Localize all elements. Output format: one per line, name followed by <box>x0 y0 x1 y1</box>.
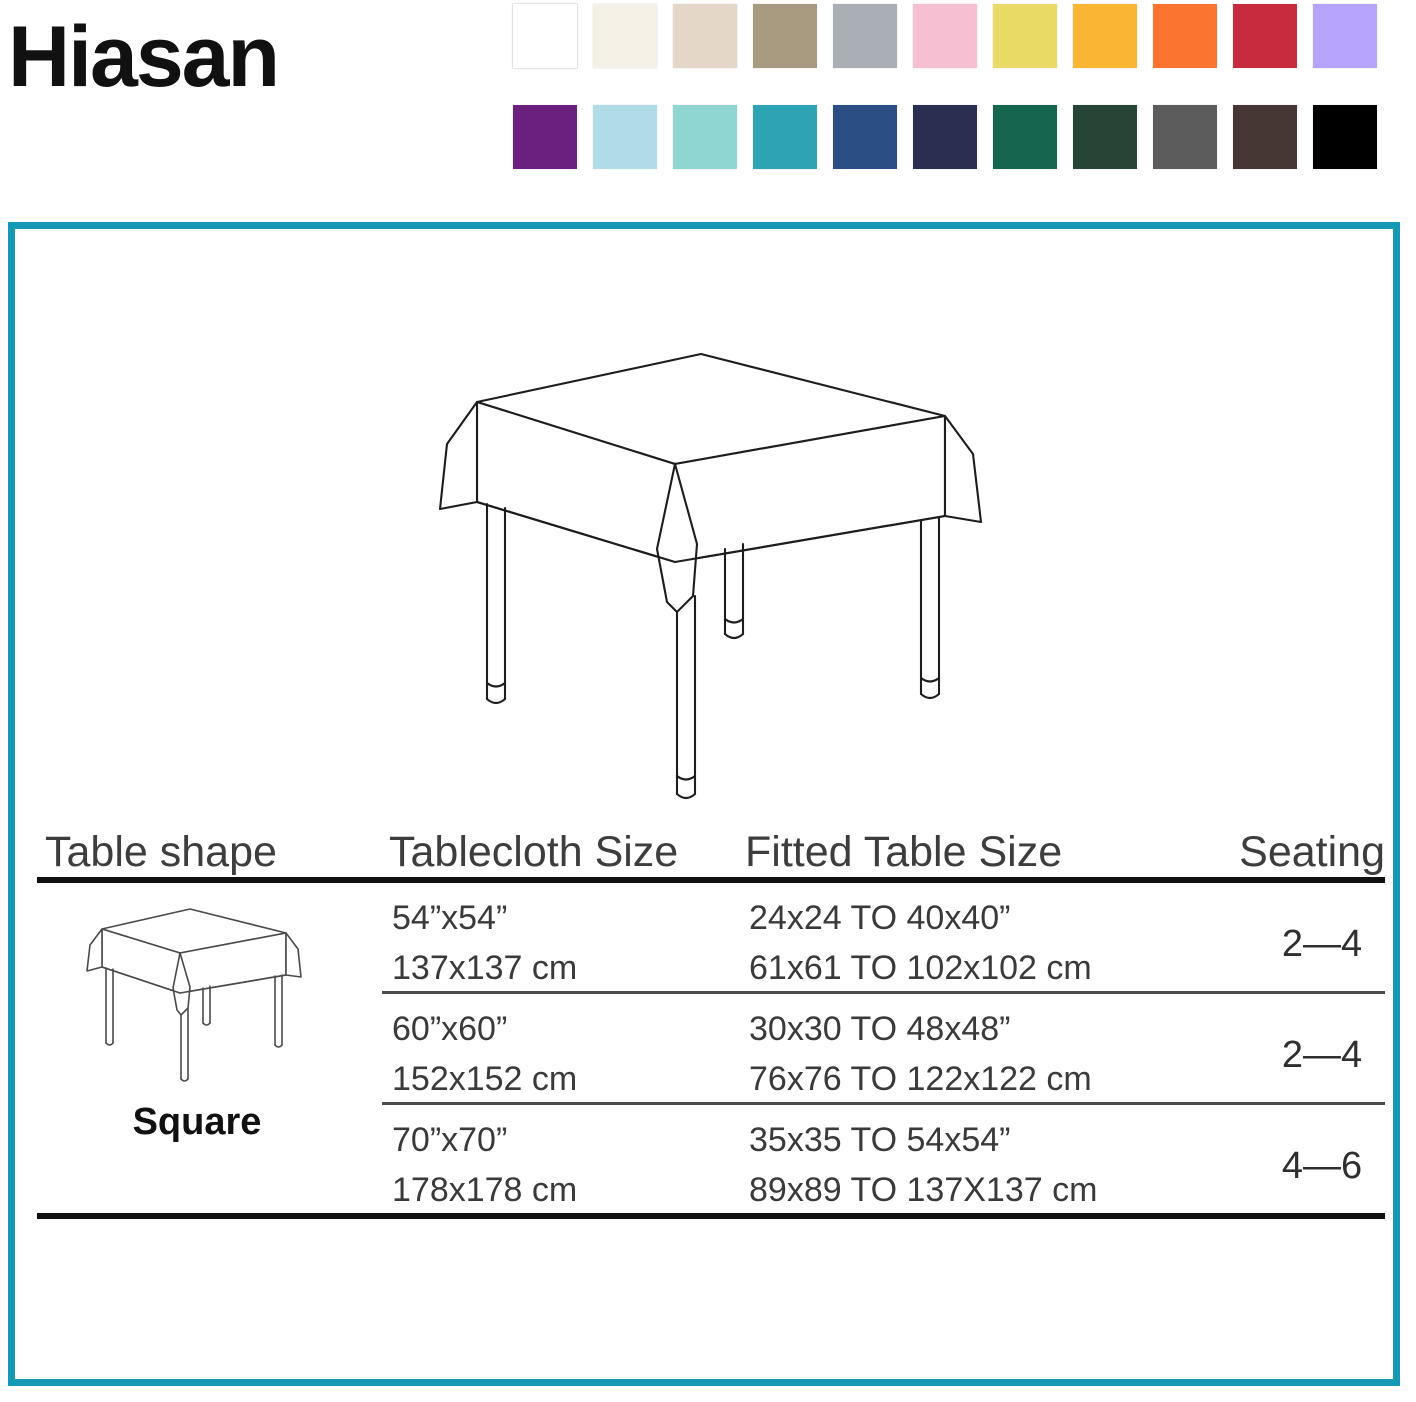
cell-fitted-size-inches: 35x35 TO 54x54” <box>749 1121 1010 1160</box>
cell-fitted-size-inches: 24x24 TO 40x40” <box>749 899 1010 938</box>
cell-seating: 2—4 <box>1227 923 1416 966</box>
cell-tablecloth-size-cm: 152x152 cm <box>392 1060 577 1099</box>
color-swatch-row-1 <box>513 4 1403 68</box>
cell-tablecloth-size-cm: 137x137 cm <box>392 949 577 988</box>
swatch-black[interactable] <box>1313 105 1377 169</box>
table-bottom-divider <box>37 1213 1385 1219</box>
color-swatch-row-2 <box>513 105 1403 169</box>
cell-tablecloth-size-cm: 178x178 cm <box>392 1171 577 1210</box>
size-chart-table: Table shape Tablecloth Size Fitted Table… <box>37 809 1385 1219</box>
swatch-dark-teal[interactable] <box>993 105 1057 169</box>
cell-fitted-size-cm: 89x89 TO 137X137 cm <box>749 1171 1097 1210</box>
table-row: 54”x54” 137x137 cm 24x24 TO 40x40” 61x61… <box>37 883 1385 991</box>
cell-fitted-size-cm: 61x61 TO 102x102 cm <box>749 949 1092 988</box>
swatch-purple[interactable] <box>513 105 577 169</box>
swatch-teal[interactable] <box>753 105 817 169</box>
cell-tablecloth-size-inches: 70”x70” <box>392 1121 507 1160</box>
color-swatch-panel <box>513 4 1403 206</box>
cell-seating: 4—6 <box>1227 1145 1416 1188</box>
cell-fitted-size-inches: 30x30 TO 48x48” <box>749 1010 1010 1049</box>
column-header-fitted-table-size: Fitted Table Size <box>745 828 1062 877</box>
swatch-ivory[interactable] <box>593 4 657 68</box>
swatch-white[interactable] <box>513 4 577 68</box>
info-panel-frame: Table shape Tablecloth Size Fitted Table… <box>8 222 1400 1386</box>
swatch-orange[interactable] <box>1153 4 1217 68</box>
cell-fitted-size-cm: 76x76 TO 122x122 cm <box>749 1060 1092 1099</box>
swatch-aqua[interactable] <box>673 105 737 169</box>
swatch-lavender[interactable] <box>1313 4 1377 68</box>
swatch-navy-blue[interactable] <box>833 105 897 169</box>
table-body: Square 54”x54” 137x137 cm 24x24 TO 40x40… <box>37 883 1385 1213</box>
cell-tablecloth-size-inches: 60”x60” <box>392 1010 507 1049</box>
swatch-dark-brown[interactable] <box>1233 105 1297 169</box>
table-row: 70”x70” 178x178 cm 35x35 TO 54x54” 89x89… <box>37 1105 1385 1213</box>
square-tablecloth-illustration <box>425 344 995 804</box>
column-header-seating: Seating <box>1239 828 1385 877</box>
swatch-golden-yellow[interactable] <box>1073 4 1137 68</box>
top-bar: Hiasan <box>0 0 1416 200</box>
swatch-beige[interactable] <box>673 4 737 68</box>
brand-logo: Hiasan <box>8 14 278 100</box>
swatch-taupe[interactable] <box>753 4 817 68</box>
table-row: 60”x60” 152x152 cm 30x30 TO 48x48” 76x76… <box>37 994 1385 1102</box>
swatch-yellow[interactable] <box>993 4 1057 68</box>
swatch-forest-green[interactable] <box>1073 105 1137 169</box>
swatch-pink[interactable] <box>913 4 977 68</box>
swatch-light-blue[interactable] <box>593 105 657 169</box>
table-header-row: Table shape Tablecloth Size Fitted Table… <box>37 809 1385 877</box>
swatch-gray[interactable] <box>833 4 897 68</box>
cell-seating: 2—4 <box>1227 1034 1416 1077</box>
cell-tablecloth-size-inches: 54”x54” <box>392 899 507 938</box>
column-header-tablecloth-size: Tablecloth Size <box>389 828 678 877</box>
column-header-table-shape: Table shape <box>45 828 277 877</box>
swatch-charcoal-gray[interactable] <box>1153 105 1217 169</box>
swatch-midnight-navy[interactable] <box>913 105 977 169</box>
swatch-red[interactable] <box>1233 4 1297 68</box>
